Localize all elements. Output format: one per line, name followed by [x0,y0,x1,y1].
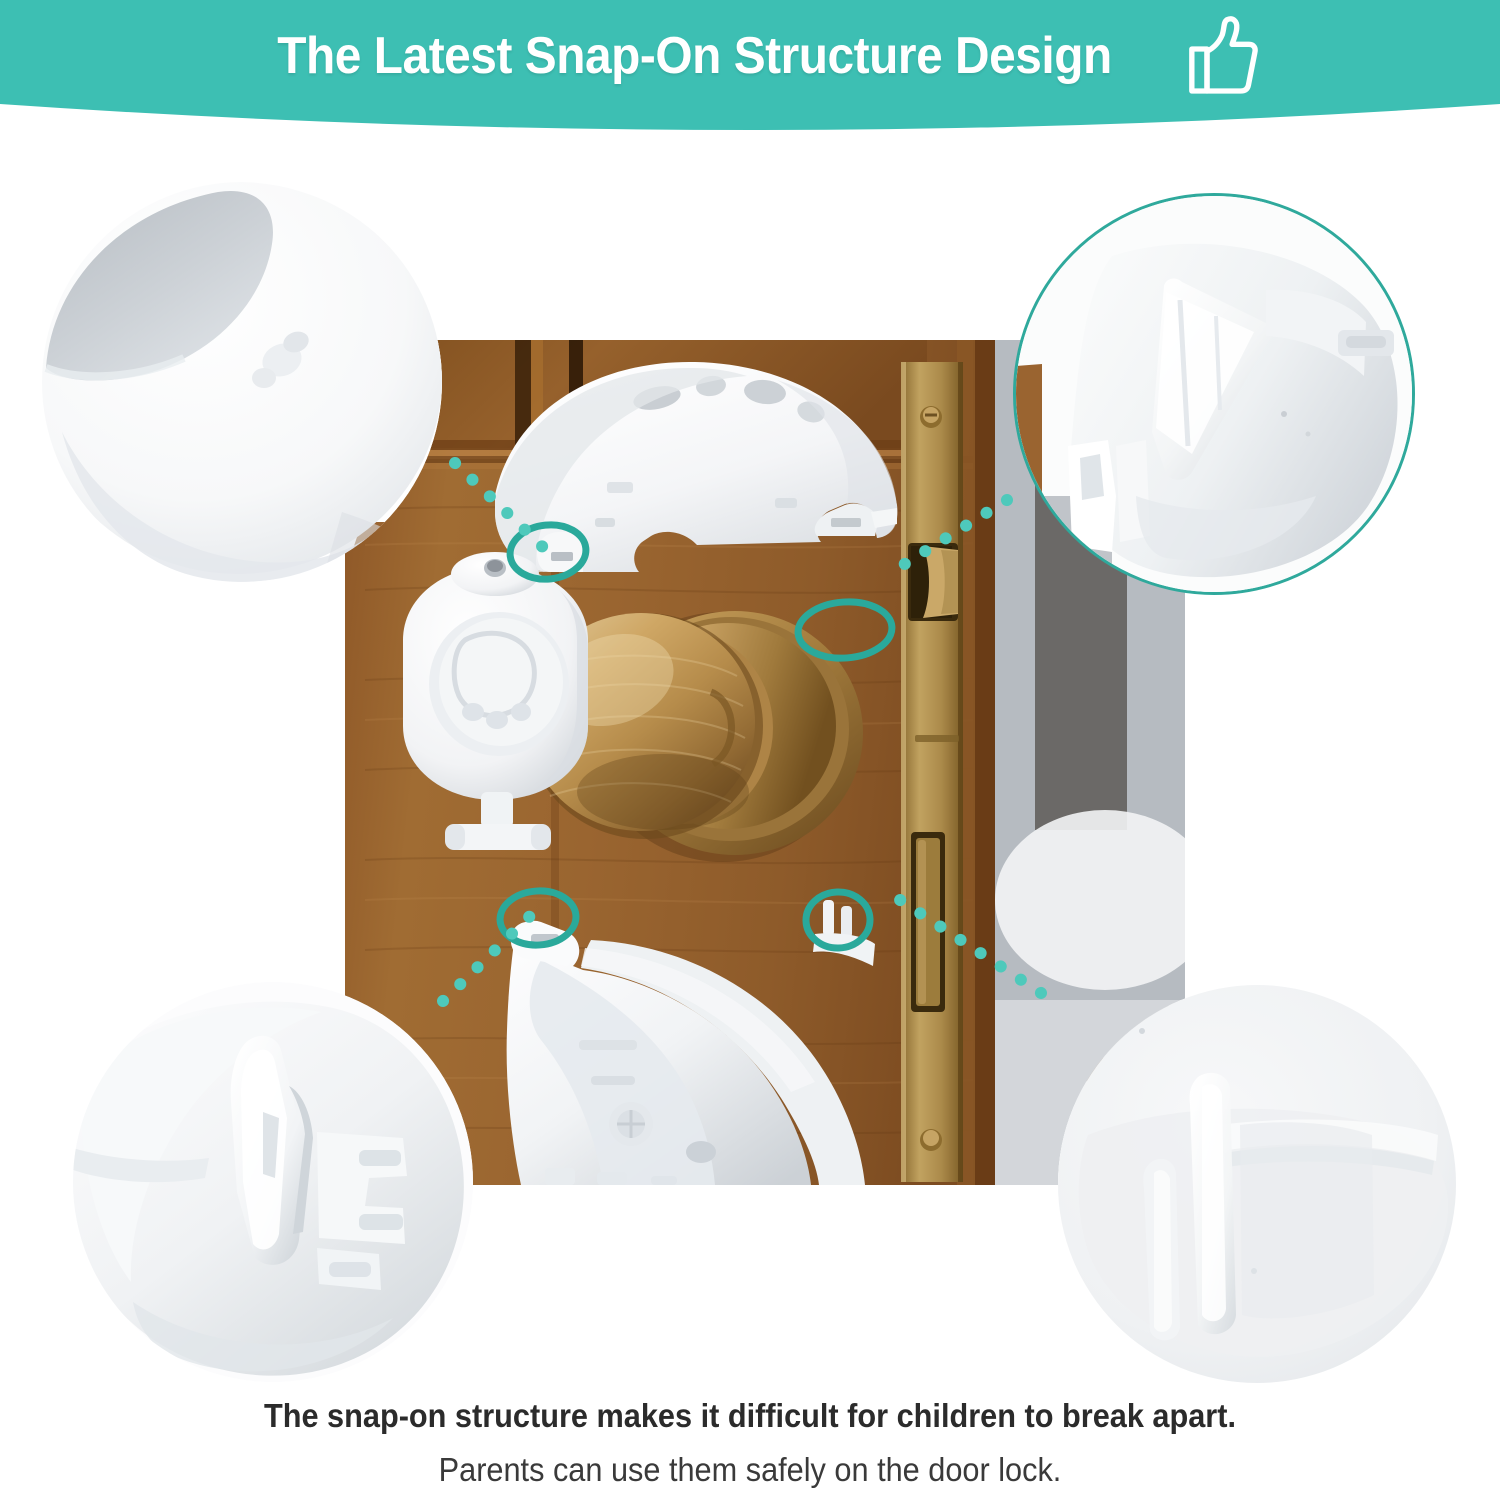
snap-tab-closeup [1016,196,1412,592]
latch-clip-closeup [73,982,473,1382]
locking-pin-closeup [1058,985,1456,1383]
dome-shell-closeup [42,182,442,582]
footer-text-block: The snap-on structure makes it difficult… [0,1395,1500,1494]
page-title: The Latest Snap-On Structure Design [278,26,1113,86]
thumbs-up-icon [1183,14,1259,98]
footer-subline: Parents can use them safely on the door … [53,1446,1448,1494]
callout-top-right [1013,193,1415,595]
product-infographic: The Latest Snap-On Structure Design [0,0,1500,1500]
footer-headline: The snap-on structure makes it difficult… [53,1395,1448,1436]
callout-bottom-right [1058,985,1456,1383]
callout-bottom-left [73,982,473,1382]
callout-top-left [42,182,442,582]
header-banner: The Latest Snap-On Structure Design [0,0,1500,150]
